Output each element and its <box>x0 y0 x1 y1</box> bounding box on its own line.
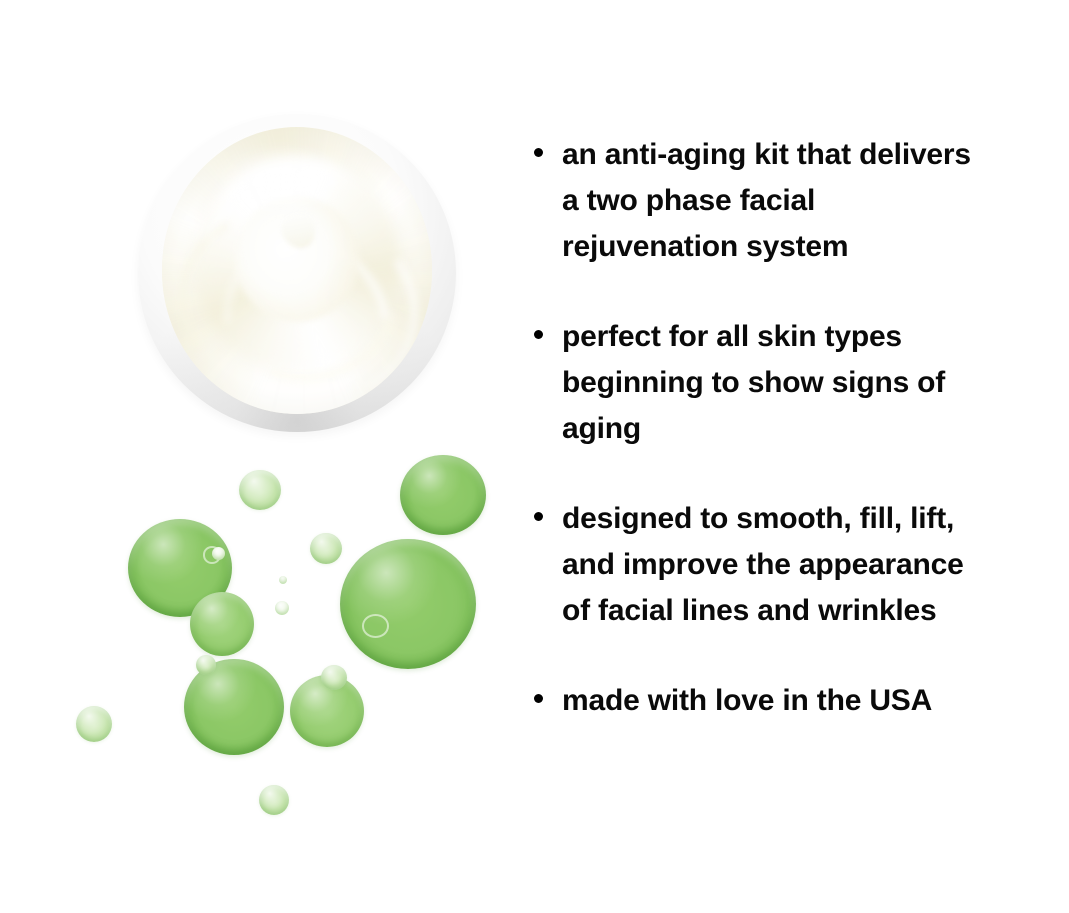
droplet-tiny-upper <box>279 576 287 584</box>
feature-item-all-skin-types: perfect for all skin types beginning to … <box>528 314 1058 452</box>
droplet-tiny-center <box>275 601 289 615</box>
bullet-point-icon <box>534 148 543 157</box>
droplet-specular-ring <box>362 614 389 638</box>
feature-bullet-list: an anti-aging kit that delivers a two ph… <box>528 132 1058 724</box>
droplet-small-top <box>239 470 281 510</box>
feature-item-smooth-fill-lift: designed to smooth, fill, lift, and impr… <box>528 496 1058 634</box>
feature-item-made-in-usa: made with love in the USA <box>528 678 1058 724</box>
product-imagery-column <box>0 0 510 913</box>
droplet-small-left <box>76 706 112 742</box>
droplet-top-right <box>400 455 486 535</box>
feature-text: perfect for all skin types beginning to … <box>562 314 1058 452</box>
feature-text: an anti-aging kit that delivers a two ph… <box>562 132 1058 270</box>
bullet-point-icon <box>534 512 543 521</box>
bullet-point-icon <box>534 694 543 703</box>
serum-droplets-image <box>0 0 510 913</box>
droplet-small-seam <box>196 655 216 675</box>
droplet-left-lower <box>190 592 254 656</box>
feature-text: designed to smooth, fill, lift, and impr… <box>562 496 1058 634</box>
droplet-tiny-edge <box>212 547 225 560</box>
droplet-small-upper-right <box>321 665 347 690</box>
product-infographic: an anti-aging kit that delivers a two ph… <box>0 0 1069 913</box>
droplet-large-right <box>340 539 476 669</box>
droplet-small-bottom <box>259 785 289 815</box>
feature-text: made with love in the USA <box>562 678 1058 724</box>
feature-item-anti-aging-kit: an anti-aging kit that delivers a two ph… <box>528 132 1058 270</box>
droplet-bottom-left <box>184 659 284 755</box>
bullet-point-icon <box>534 330 543 339</box>
droplet-small-mid <box>310 533 342 564</box>
